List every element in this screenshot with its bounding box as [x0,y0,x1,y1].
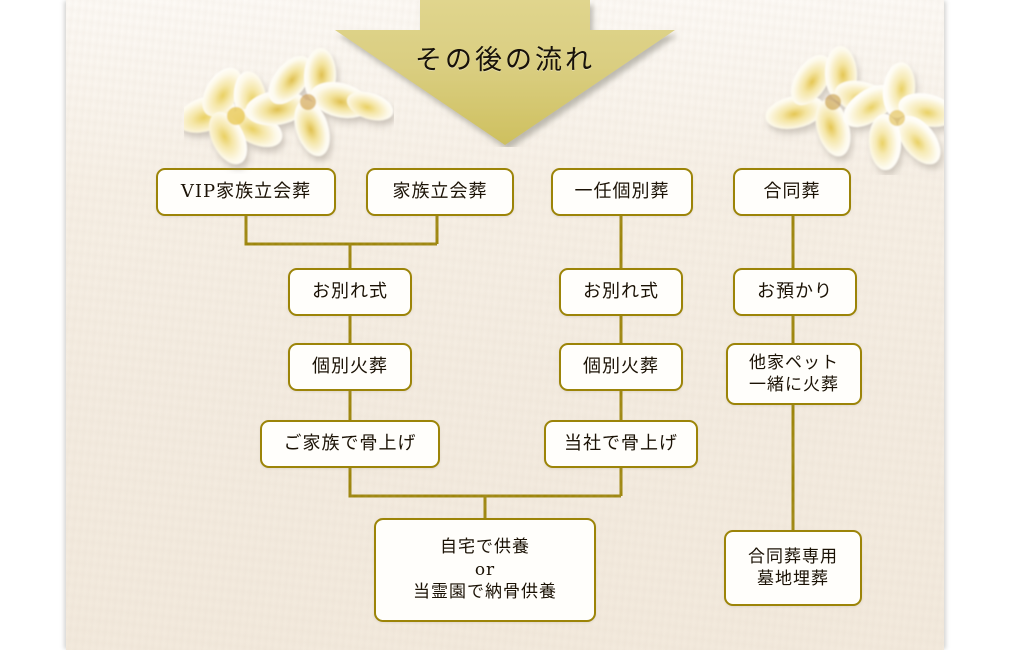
flow-node-home-or-cemetery-memorial: 自宅で供養or当霊園で納骨供養 [374,518,596,622]
page-root: VIP家族立会葬家族立会葬一任個別葬合同葬お別れ式お別れ式お預かり個別火葬個別火… [0,0,1010,650]
flow-node-joint-funeral: 合同葬 [733,168,851,216]
flow-node-safekeeping: お預かり [733,268,857,316]
flow-node-line: 当霊園で納骨供養 [413,581,557,603]
flow-node-label: 自宅で供養or当霊園で納骨供養 [413,536,557,603]
flow-node-label: 合同葬 [764,180,821,204]
flow-node-entrusted-individual: 一任個別葬 [551,168,693,216]
flow-node-label: 一任個別葬 [575,180,670,204]
flow-node-line: 他家ペット [749,352,839,374]
flow-node-line: 自宅で供養 [413,536,557,558]
flow-node-line: 一任個別葬 [575,180,670,204]
flow-node-company-bone-picking: 当社で骨上げ [544,420,698,468]
flow-node-label: お別れ式 [583,280,659,304]
flow-node-line: or [413,559,557,581]
flow-node-line: 墓地埋葬 [748,568,838,590]
section-arrow-banner: その後の流れ [330,0,680,147]
flow-node-line: 合同葬 [764,180,821,204]
flow-node-line: 家族立会葬 [393,180,488,204]
flow-node-line: 合同葬専用 [748,546,838,568]
flow-node-line: お預かり [757,280,833,304]
flow-node-shared-cremation: 他家ペット一緒に火葬 [726,343,862,405]
flow-node-label: 当社で骨上げ [564,432,678,456]
flow-node-label: ご家族で骨上げ [284,432,417,456]
flow-node-label: 合同葬専用墓地埋葬 [748,546,838,591]
flow-node-farewell-ceremony-mid: お別れ式 [559,268,683,316]
flow-node-line: 当社で骨上げ [564,432,678,456]
flow-node-joint-grave-burial: 合同葬専用墓地埋葬 [724,530,862,606]
flow-node-line: 一緒に火葬 [749,374,839,396]
flow-node-farewell-ceremony-left: お別れ式 [288,268,412,316]
flow-node-label: 個別火葬 [583,355,659,379]
flow-node-individual-cremation-left: 個別火葬 [288,343,412,391]
flow-node-line: VIP家族立会葬 [181,180,311,204]
flow-node-line: 個別火葬 [312,355,388,379]
flow-node-line: 個別火葬 [583,355,659,379]
arrow-banner-label: その後の流れ [330,38,680,77]
flow-node-family-funeral: 家族立会葬 [366,168,514,216]
flow-node-individual-cremation-mid: 個別火葬 [559,343,683,391]
flow-node-label: VIP家族立会葬 [181,180,311,204]
flow-node-vip-family-funeral: VIP家族立会葬 [156,168,336,216]
flow-node-line: お別れ式 [583,280,659,304]
flow-node-label: 家族立会葬 [393,180,488,204]
flow-node-label: お別れ式 [312,280,388,304]
flow-node-line: お別れ式 [312,280,388,304]
flow-node-label: 他家ペット一緒に火葬 [749,352,839,397]
flow-node-family-bone-picking: ご家族で骨上げ [260,420,440,468]
flow-node-line: ご家族で骨上げ [284,432,417,456]
flow-node-label: 個別火葬 [312,355,388,379]
flow-node-label: お預かり [757,280,833,304]
